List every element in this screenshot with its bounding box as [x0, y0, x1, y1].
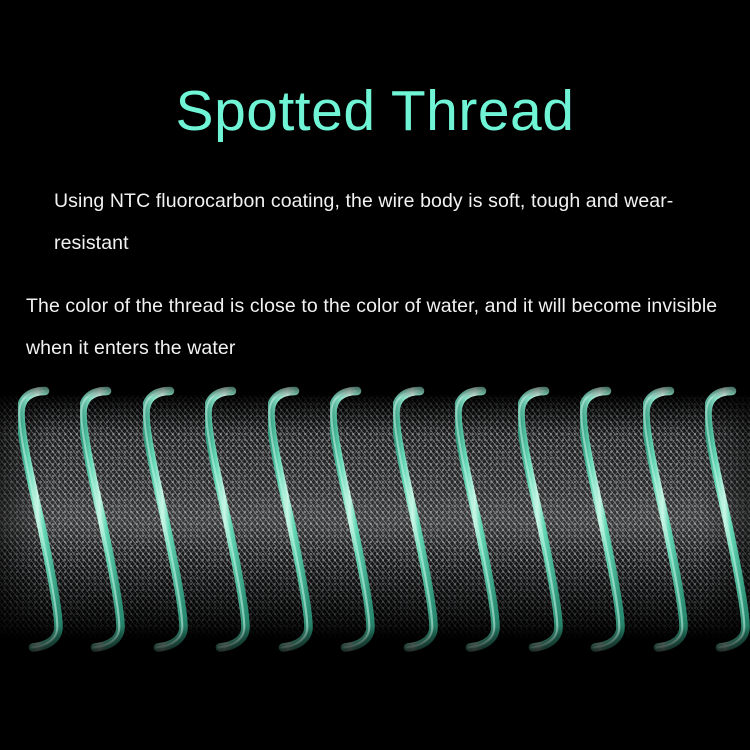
- spool-sheen: [0, 493, 750, 556]
- page-title: Spotted Thread: [0, 82, 750, 142]
- feature-paragraph-coating: Using NTC fluorocarbon coating, the wire…: [54, 180, 714, 264]
- spool-vignette: [0, 395, 750, 639]
- product-photo: [0, 372, 750, 672]
- feature-paragraph-invisibility: The color of the thread is close to the …: [26, 285, 742, 369]
- spool-barrel: [0, 395, 750, 639]
- product-banner: Spotted Thread Using NTC fluorocarbon co…: [0, 0, 750, 750]
